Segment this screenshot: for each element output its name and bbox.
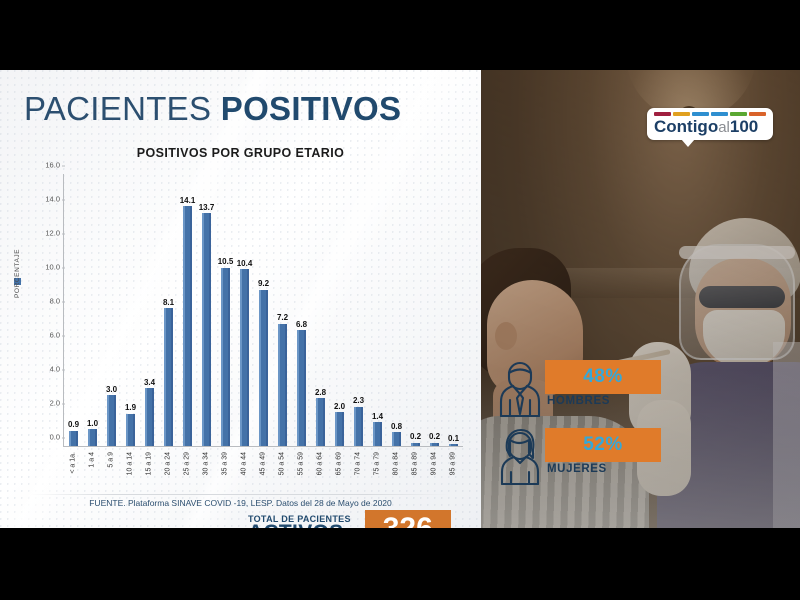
total-label-line2: ACTIVOS [248,521,351,528]
x-axis-slot: 30 a 34 [196,450,215,498]
x-axis-labels: < a 1a.1 a 45 a 910 a 1415 a 1920 a 2425… [63,450,463,498]
x-axis-tick-label: < a 1a. [69,452,76,474]
chart-bar[interactable]: 2.0 [335,412,344,446]
logo-color-bar [692,112,709,116]
chart-bar[interactable]: 6.8 [297,330,306,446]
x-axis-slot: 10 a 14 [120,450,139,498]
chart-bar[interactable]: 1.0 [88,429,97,446]
bar-slot: 3.0 [102,174,121,446]
page-title-bold: POSITIVOS [221,90,402,127]
bar-value-label: 0.1 [448,434,459,443]
y-axis-tick: 16.0 [45,161,60,170]
bar-slot: 2.3 [349,174,368,446]
x-axis-slot: 25 a 29 [177,450,196,498]
x-axis-tick-label: 75 a 79 [374,452,381,475]
bar-slot: 9.2 [254,174,273,446]
y-axis-tick: 14.0 [45,195,60,204]
bar-value-label: 1.9 [125,403,136,412]
logo-color-bar [730,112,747,116]
total-value-badge: 326 [365,510,451,528]
chart-bar[interactable]: 10.4 [240,269,249,446]
total-active-patients: TOTAL DE PACIENTES ACTIVOS 326 [248,510,451,528]
chart-bar[interactable]: 8.1 [164,308,173,446]
contigo-al-100-logo: Contigoal100 [647,108,773,140]
mujeres-label: MUJERES [547,463,607,475]
bar-value-label: 1.0 [87,419,98,428]
chart-bar[interactable]: 3.4 [145,388,154,446]
x-axis-tick-label: 90 a 94 [431,452,438,475]
bar-chart: PORCENTAJE 0.02.04.06.08.010.012.014.016… [8,174,473,499]
chart-bar[interactable]: 14.1 [183,206,192,446]
hombres-percent-bar: 48% [545,360,661,394]
hombres-label: HOMBRES [547,395,610,407]
bar-slot: 14.1 [178,174,197,446]
y-axis-tick: 0.0 [50,433,60,442]
x-axis-tick-label: 85 a 89 [412,452,419,475]
divider [30,494,450,495]
logo-text-al: al [718,119,730,136]
gender-stat-mujeres: 52% MUJERES [491,428,791,486]
female-person-icon [497,428,543,486]
logo-text: Contigoal100 [654,118,766,135]
x-axis-tick-label: 55 a 59 [298,452,305,475]
bar-slot: 1.4 [368,174,387,446]
male-person-icon [497,360,543,418]
bar-slot: 8.1 [159,174,178,446]
chart-bar[interactable]: 0.1 [449,444,458,446]
x-axis-tick-label: 10 a 14 [126,452,133,475]
bar-value-label: 0.2 [410,432,421,441]
y-axis-tick: 6.0 [50,331,60,340]
mujeres-percent: 52% [583,434,623,456]
x-axis-slot: 15 a 19 [139,450,158,498]
right-photo-panel: Contigoal100 48% HOMBR [481,70,800,528]
x-axis-tick-label: 40 a 44 [240,452,247,475]
logo-speech-tail [681,139,695,147]
logo-text-contigo: Contigo [654,117,718,136]
bar-value-label: 2.3 [353,396,364,405]
chart-bar[interactable]: 2.8 [316,398,325,446]
bar-slot: 1.9 [121,174,140,446]
x-axis-slot: 45 a 49 [253,450,272,498]
left-panel: PACIENTES POSITIVOS POSITIVOS POR GRUPO … [0,70,481,528]
bar-value-label: 0.8 [391,422,402,431]
y-axis-label: PORCENTAJE [14,249,21,298]
x-axis-slot: 5 a 9 [101,450,120,498]
bar-value-label: 8.1 [163,298,174,307]
bar-value-label: 1.4 [372,412,383,421]
page-title: PACIENTES POSITIVOS [24,90,401,128]
x-axis-tick-label: 45 a 49 [259,452,266,475]
chart-bar[interactable]: 0.2 [430,443,439,446]
x-axis-tick-label: 5 a 9 [107,452,114,468]
chart-bar[interactable]: 1.4 [373,422,382,446]
page-title-light: PACIENTES [24,90,211,127]
y-axis-tick: 10.0 [45,263,60,272]
logo-color-bar [654,112,671,116]
x-axis-tick-label: 1 a 4 [88,452,95,468]
x-axis-tick-label: 30 a 34 [202,452,209,475]
bar-slot: 2.8 [311,174,330,446]
x-axis-tick-label: 35 a 39 [221,452,228,475]
chart-bar[interactable]: 3.0 [107,395,116,446]
x-axis-tick-label: 95 a 99 [450,452,457,475]
chart-bar[interactable]: 0.2 [411,443,420,446]
bar-slot: 0.2 [425,174,444,446]
bar-slot: 0.9 [64,174,83,446]
logo-color-bar [749,112,766,116]
x-axis-tick-label: 25 a 29 [183,452,190,475]
total-label: TOTAL DE PACIENTES ACTIVOS [248,514,351,528]
bar-slot: 0.2 [406,174,425,446]
y-axis-tick: 4.0 [50,365,60,374]
x-axis-slot: 95 a 99 [444,450,463,498]
bar-value-label: 10.4 [237,259,253,268]
logo-text-100: 100 [730,117,758,136]
logo-color-bar [711,112,728,116]
source-note: FUENTE. Plataforma SINAVE COVID -19, LES… [0,498,481,508]
chart-bar[interactable]: 0.9 [69,431,78,446]
x-axis-slot: 70 a 74 [349,450,368,498]
x-axis-tick-label: 20 a 24 [164,452,171,475]
logo-color-bar [673,112,690,116]
bar-slot: 6.8 [292,174,311,446]
x-axis-tick-label: 15 a 19 [145,452,152,475]
x-axis-slot: 60 a 64 [311,450,330,498]
bar-value-label: 0.2 [429,432,440,441]
x-axis-slot: 80 a 84 [387,450,406,498]
mujeres-percent-bar: 52% [545,428,661,462]
x-axis-slot: 65 a 69 [330,450,349,498]
y-axis-tick: 8.0 [50,297,60,306]
bar-value-label: 10.5 [218,257,234,266]
bar-value-label: 0.9 [68,420,79,429]
chart-bar[interactable]: 7.2 [278,324,287,446]
x-axis-slot: 20 a 24 [158,450,177,498]
x-axis-tick-label: 60 a 64 [317,452,324,475]
x-axis-slot: 75 a 79 [368,450,387,498]
gender-stat-hombres: 48% HOMBRES [491,360,791,418]
chart-bar[interactable]: 0.8 [392,432,401,446]
x-axis-slot: < a 1a. [63,450,82,498]
chart-bar[interactable]: 10.5 [221,268,230,447]
logo-color-bars [654,112,766,116]
bar-value-label: 13.7 [199,203,215,212]
x-axis-slot: 85 a 89 [406,450,425,498]
x-axis-tick-label: 70 a 74 [355,452,362,475]
x-axis-slot: 50 a 54 [273,450,292,498]
plot-area: 0.02.04.06.08.010.012.014.016.0 0.91.03.… [63,174,463,447]
chart-bar[interactable]: 13.7 [202,213,211,446]
x-axis-tick-label: 50 a 54 [279,452,286,475]
bar-slot: 10.5 [216,174,235,446]
x-axis-slot: 90 a 94 [425,450,444,498]
bar-value-label: 3.0 [106,385,117,394]
chart-bar[interactable]: 2.3 [354,407,363,446]
x-axis-slot: 1 a 4 [82,450,101,498]
x-axis-slot: 40 a 44 [234,450,253,498]
y-axis-tick: 12.0 [45,229,60,238]
x-axis-tick-label: 65 a 69 [336,452,343,475]
bar-value-label: 3.4 [144,378,155,387]
chart-bar[interactable]: 9.2 [259,290,268,446]
slide-content: PACIENTES POSITIVOS POSITIVOS POR GRUPO … [0,70,800,528]
chart-bar[interactable]: 1.9 [126,414,135,446]
bar-slot: 3.4 [140,174,159,446]
bar-value-label: 7.2 [277,313,288,322]
y-axis-tick: 2.0 [50,399,60,408]
hombres-percent: 48% [583,366,623,388]
x-axis-slot: 35 a 39 [215,450,234,498]
bar-slot: 10.4 [235,174,254,446]
x-axis-slot: 55 a 59 [292,450,311,498]
bar-slot: 0.1 [444,174,463,446]
x-axis-tick-label: 80 a 84 [393,452,400,475]
bar-value-label: 2.0 [334,402,345,411]
chart-title: POSITIVOS POR GRUPO ETARIO [0,146,481,160]
bar-slot: 1.0 [83,174,102,446]
bar-slot: 0.8 [387,174,406,446]
bar-value-label: 2.8 [315,388,326,397]
bar-slot: 2.0 [330,174,349,446]
bar-series: 0.91.03.01.93.48.114.113.710.510.49.27.2… [64,174,463,446]
bar-slot: 7.2 [273,174,292,446]
bar-slot: 13.7 [197,174,216,446]
bar-value-label: 6.8 [296,320,307,329]
bar-value-label: 14.1 [180,196,196,205]
bar-value-label: 9.2 [258,279,269,288]
